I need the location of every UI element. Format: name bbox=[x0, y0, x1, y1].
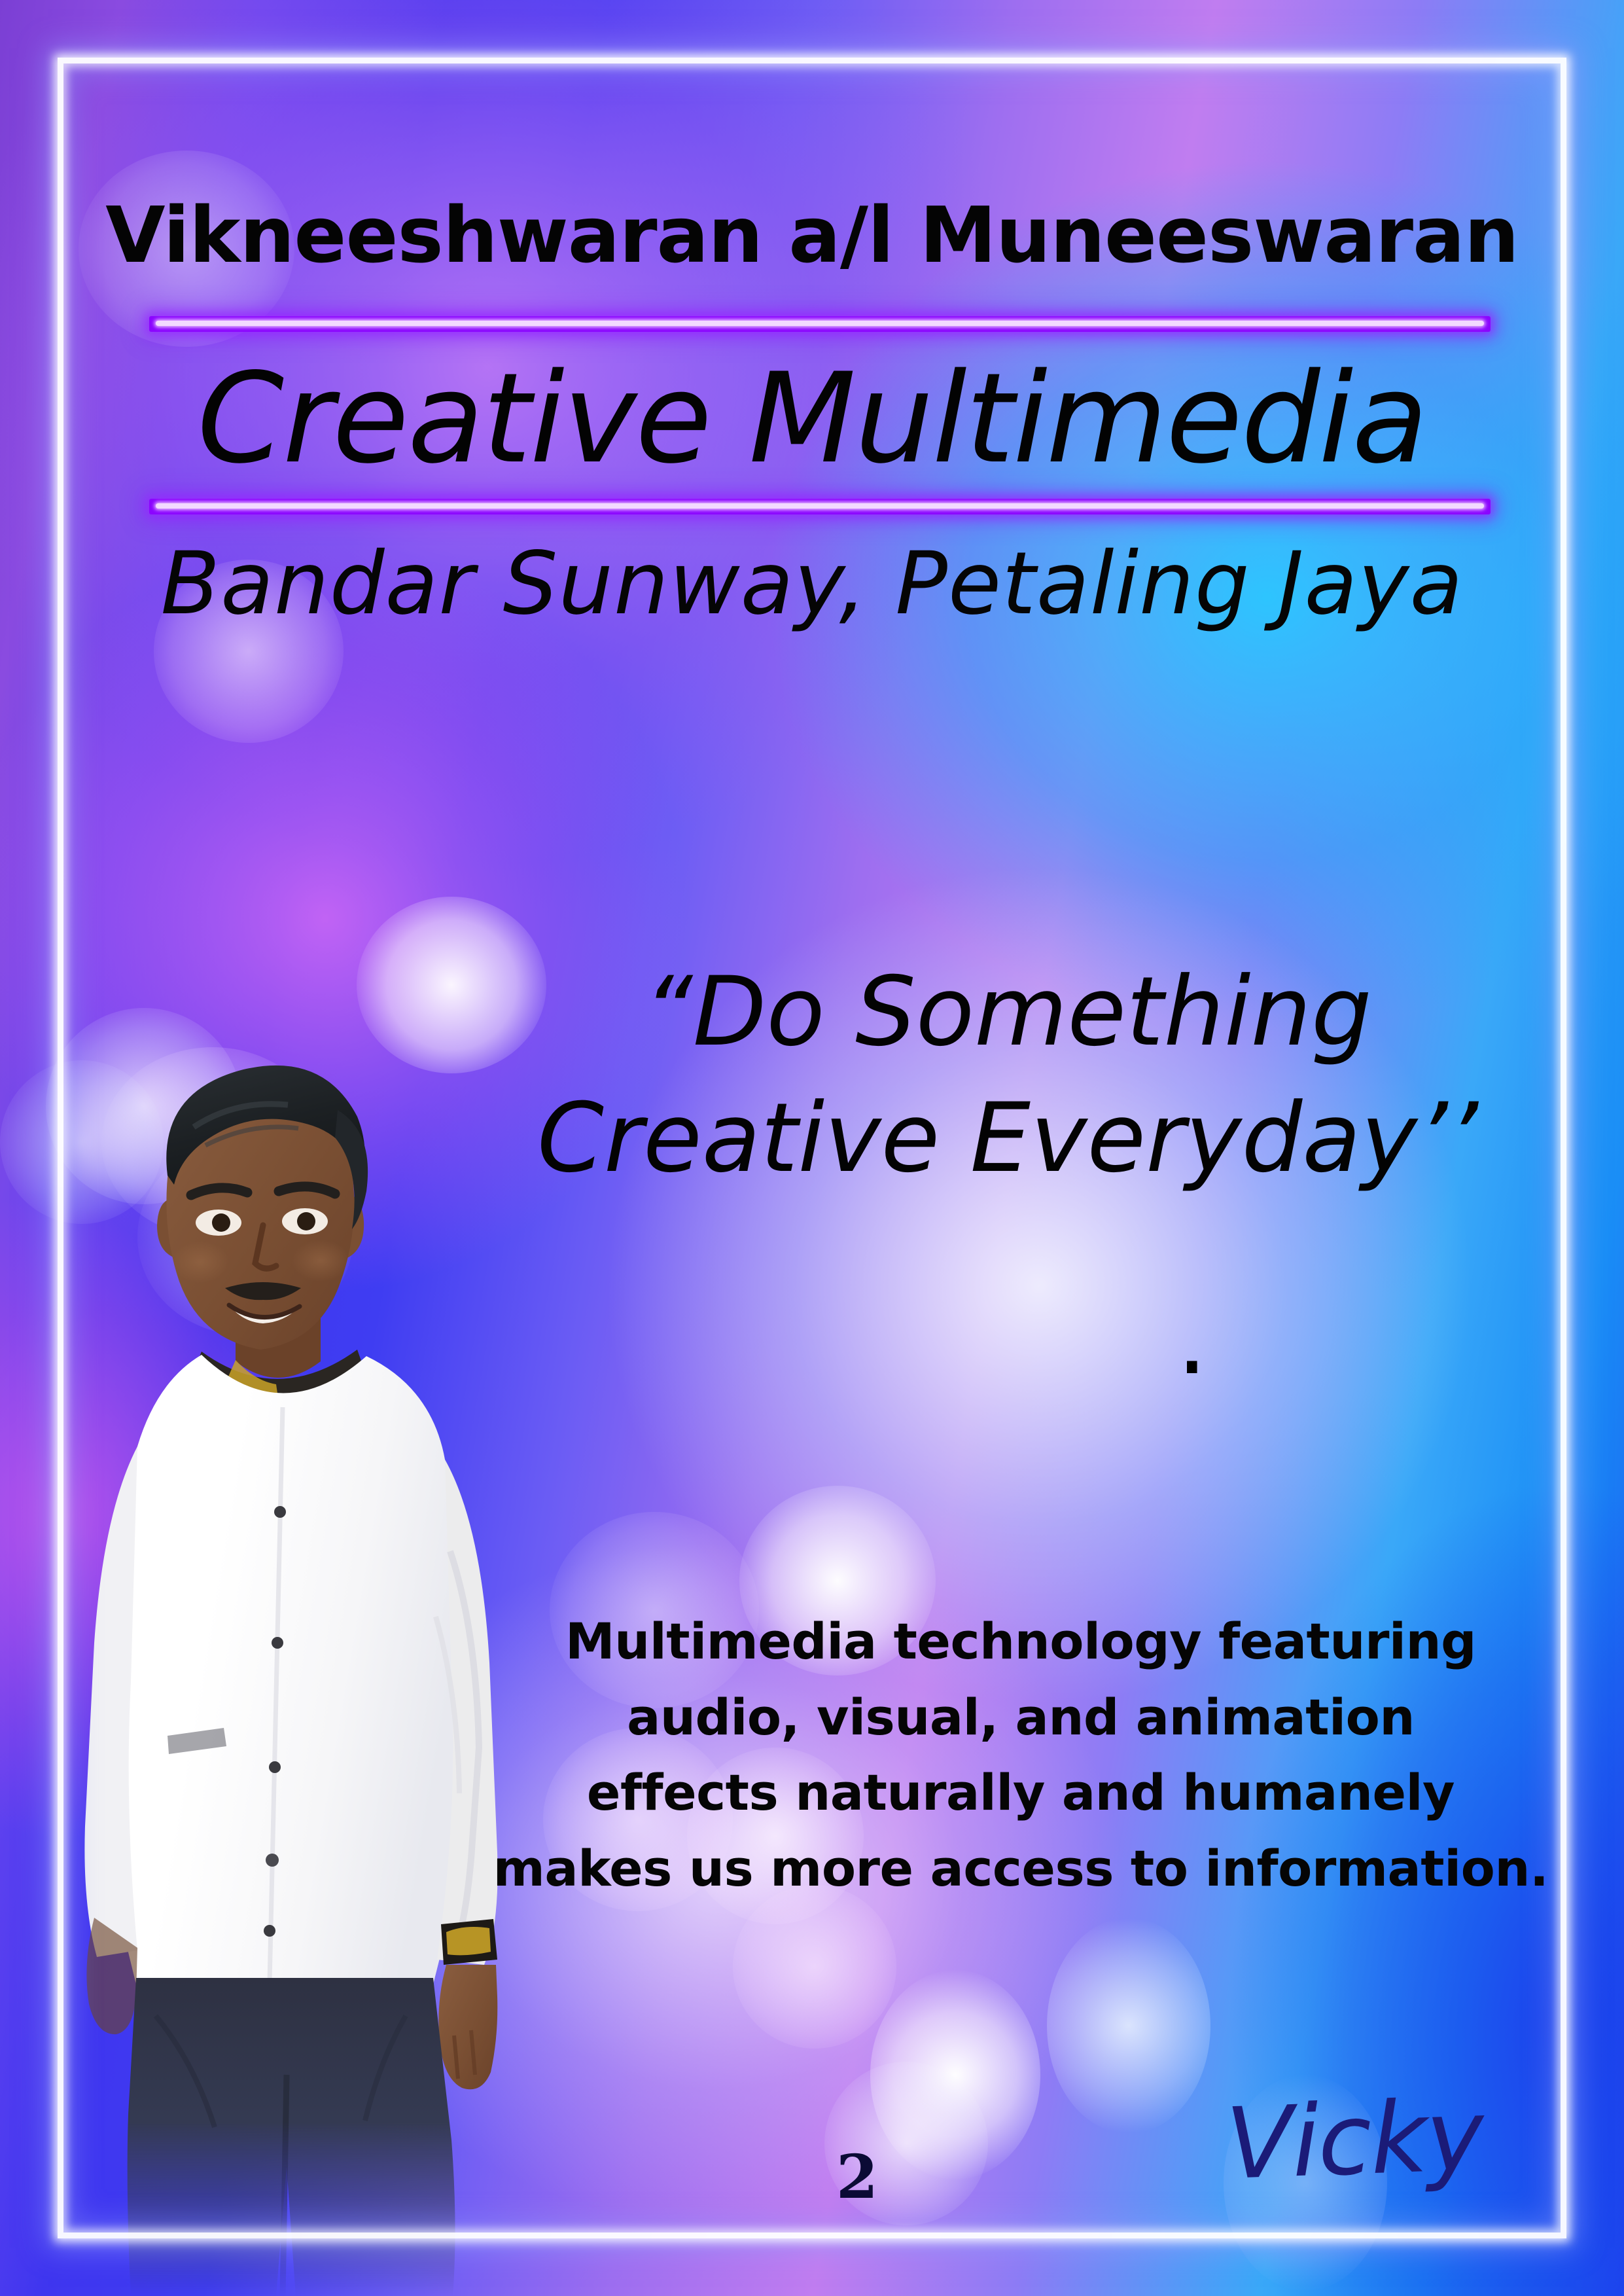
divider-line-top bbox=[149, 316, 1491, 332]
body-paragraph-line-2: audio, visual, and animation bbox=[484, 1679, 1557, 1755]
page-subtitle-location: Bandar Sunway, Petaling Jaya bbox=[0, 537, 1624, 632]
body-paragraph-line-1: Multimedia technology featuring bbox=[484, 1604, 1557, 1679]
tagline-quote-line-1: “Do Something bbox=[497, 949, 1518, 1075]
tagline-trailing-period: . bbox=[1176, 1291, 1208, 1389]
signature-nickname: Vicky bbox=[1196, 2086, 1513, 2195]
body-paragraph-line-3: effects naturally and humanely bbox=[484, 1755, 1557, 1831]
page-number: 2 bbox=[805, 2147, 909, 2207]
page-title-course: Creative Multimedia bbox=[0, 353, 1624, 484]
body-paragraph: Multimedia technology featuring audio, v… bbox=[484, 1604, 1557, 1906]
page-title-student-name: Vikneeshwaran a/l Muneeswaran bbox=[0, 196, 1624, 274]
tagline-quote-line-2: Creative Everyday’’ bbox=[497, 1075, 1518, 1202]
poster-canvas: Vikneeshwaran a/l Muneeswaran Creative M… bbox=[0, 0, 1624, 2296]
tagline-quote: “Do Something Creative Everyday’’ bbox=[497, 949, 1518, 1201]
body-paragraph-line-4: makes us more access to information. bbox=[484, 1831, 1557, 1907]
divider-line-bottom bbox=[149, 499, 1491, 514]
